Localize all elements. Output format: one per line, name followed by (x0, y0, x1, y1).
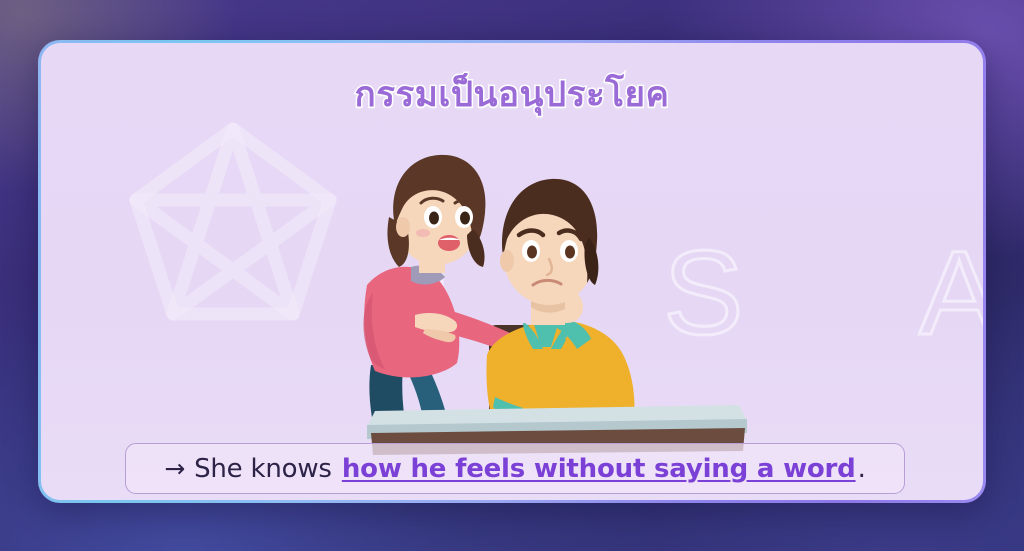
example-sentence: →She knows how he feels without saying a… (164, 454, 865, 484)
watermark-letter-a: A (919, 233, 983, 353)
man-figure (486, 179, 634, 433)
highlighted-noun-clause: how he feels without saying a word (342, 454, 856, 484)
content-card-border: L S A กรรมเป็นอนุประโยค (38, 40, 986, 503)
illustration-woman-comforting-man (337, 133, 757, 463)
page-title: กรรมเป็นอนุประโยค (41, 67, 983, 122)
arrow-icon: → (164, 454, 185, 483)
slide-canvas: L S A กรรมเป็นอนุประโยค (0, 0, 1024, 551)
example-sentence-box: →She knows how he feels without saying a… (125, 443, 905, 494)
sentence-prefix: She knows (194, 454, 332, 484)
sentence-period: . (858, 454, 866, 484)
content-card: L S A กรรมเป็นอนุประโยค (41, 43, 983, 500)
